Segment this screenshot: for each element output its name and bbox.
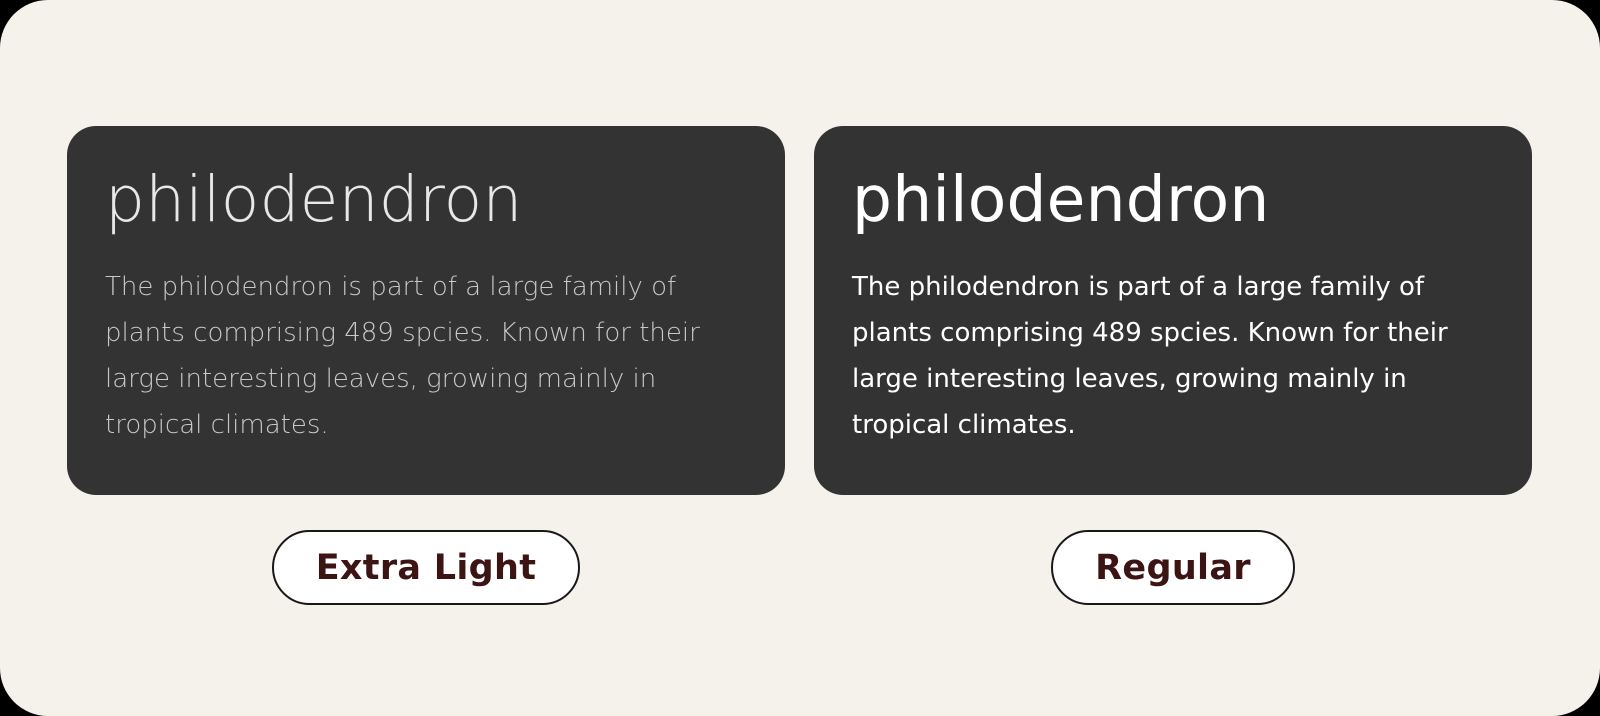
weight-pill-extra-light[interactable]: Extra Light: [272, 530, 581, 605]
weight-pill-regular[interactable]: Regular: [1051, 530, 1295, 605]
specimen-body-extra-light: The philodendron is part of a large fami…: [105, 264, 715, 448]
specimen-extra-light: philodendron The philodendron is part of…: [67, 126, 785, 605]
specimen-card-regular: philodendron The philodendron is part of…: [814, 126, 1532, 495]
specimen-regular: philodendron The philodendron is part of…: [814, 126, 1532, 605]
specimen-card-extra-light: philodendron The philodendron is part of…: [67, 126, 785, 495]
specimen-heading-regular: philodendron: [852, 160, 1494, 240]
specimen-body-regular: The philodendron is part of a large fami…: [852, 264, 1462, 448]
font-specimen-frame: philodendron The philodendron is part of…: [0, 0, 1600, 716]
specimen-heading-extra-light: philodendron: [105, 160, 747, 240]
font-weight-comparison: philodendron The philodendron is part of…: [67, 126, 1533, 605]
